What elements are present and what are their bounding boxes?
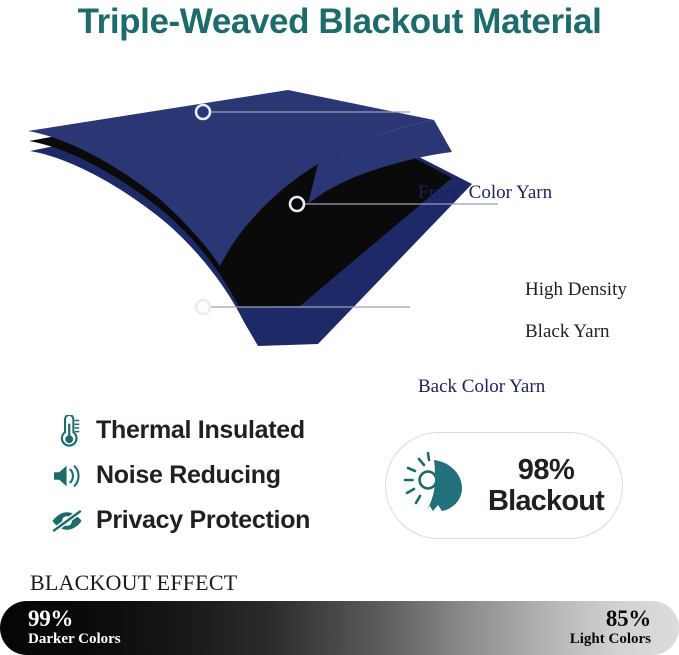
page-title: Triple-Weaved Blackout Material bbox=[0, 2, 679, 42]
label-middle-line2: Black Yarn bbox=[525, 321, 609, 342]
feature-thermal-insulated: Thermal Insulated bbox=[46, 408, 366, 453]
speaker-icon bbox=[46, 458, 88, 494]
effect-light-label: Light Colors bbox=[570, 631, 651, 648]
blackout-badge-text: 98% Blackout bbox=[480, 455, 622, 516]
effect-darker-group: 99% Darker Colors bbox=[28, 607, 121, 648]
effect-light-percent: 85% bbox=[570, 607, 651, 631]
blackout-badge: 98% Blackout bbox=[385, 432, 623, 539]
feature-label-noise: Noise Reducing bbox=[96, 461, 281, 490]
thermometer-icon bbox=[46, 413, 88, 449]
feature-privacy-protection: Privacy Protection bbox=[46, 498, 366, 543]
eye-off-icon bbox=[46, 503, 88, 539]
label-back-color-yarn: Back Color Yarn bbox=[418, 376, 545, 397]
label-front-color-yarn: Front Color Yarn bbox=[418, 182, 552, 203]
fabric-layers-diagram: Front Color Yarn High Density Black Yarn… bbox=[0, 78, 679, 358]
effect-darker-label: Darker Colors bbox=[28, 631, 121, 648]
blackout-word: Blackout bbox=[480, 486, 612, 516]
feature-noise-reducing: Noise Reducing bbox=[46, 453, 366, 498]
blackout-percent: 98% bbox=[480, 455, 612, 485]
effect-darker-percent: 99% bbox=[28, 607, 121, 631]
label-middle-line1: High Density bbox=[525, 279, 627, 300]
feature-label-privacy: Privacy Protection bbox=[96, 506, 310, 535]
sun-blocked-icon bbox=[394, 451, 480, 521]
effect-light-group: 85% Light Colors bbox=[570, 607, 651, 648]
label-high-density-black-yarn: High Density Black Yarn bbox=[506, 258, 627, 363]
blackout-effect-bar: 99% Darker Colors 85% Light Colors bbox=[0, 601, 679, 655]
blackout-effect-heading: BLACKOUT EFFECT bbox=[30, 570, 237, 596]
feature-label-thermal: Thermal Insulated bbox=[96, 416, 305, 445]
feature-list: Thermal Insulated Noise Reducing bbox=[46, 408, 366, 543]
